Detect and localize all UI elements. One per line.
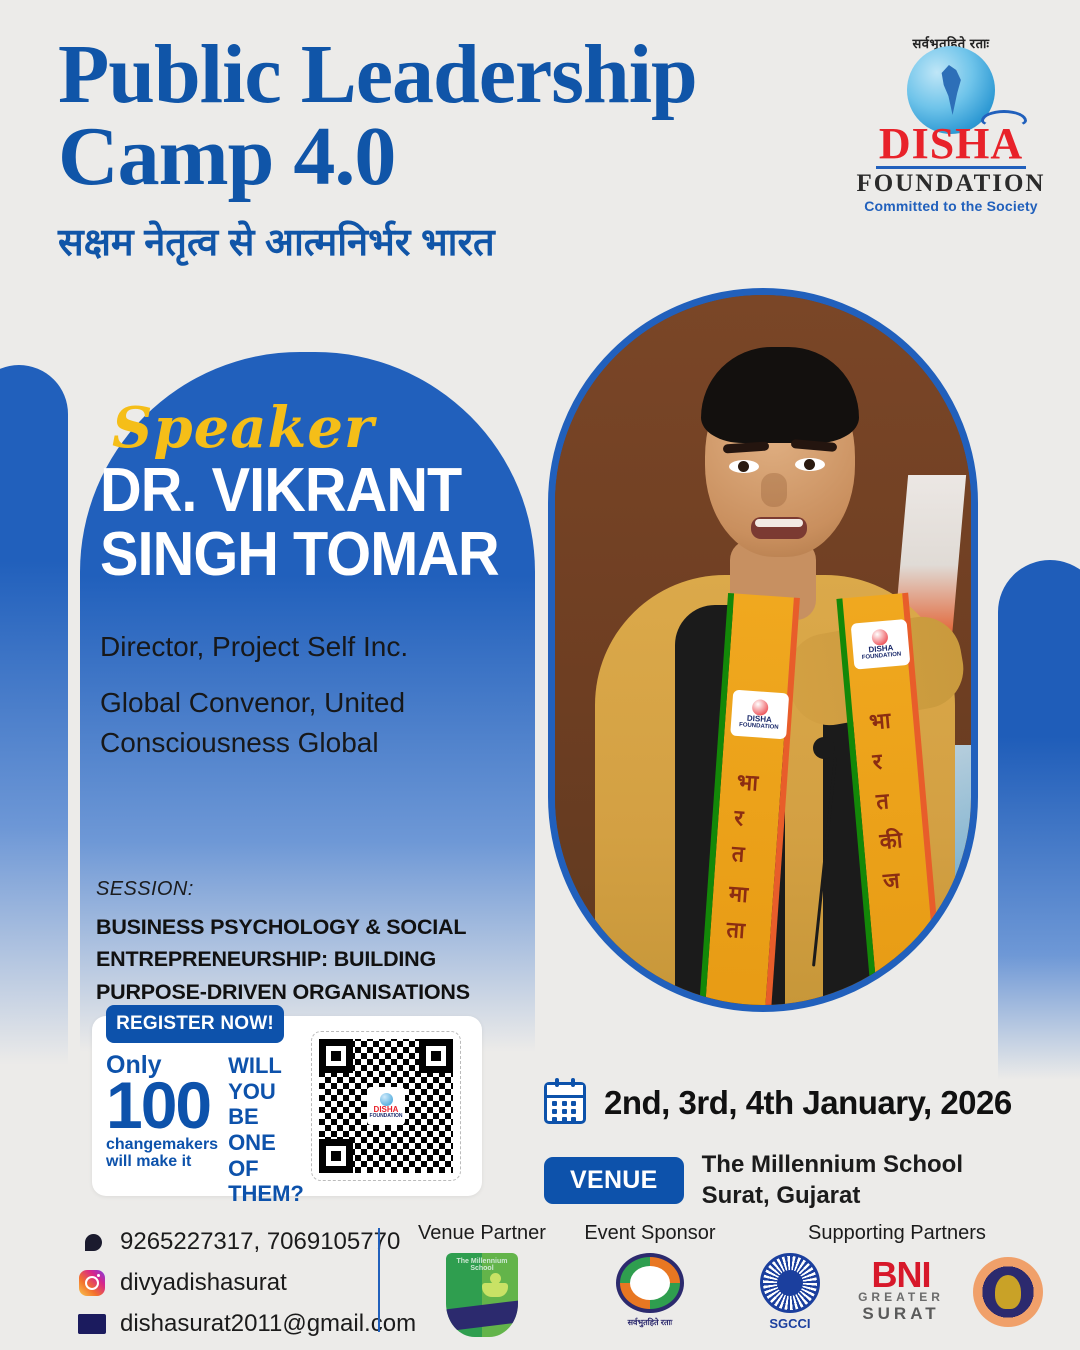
venue-partner-group: Venue Partner The Millennium School bbox=[398, 1222, 566, 1337]
millennium-school-logo: The Millennium School bbox=[446, 1253, 518, 1337]
event-poster: Public Leadership Camp 4.0 सक्षम नेतृत्व… bbox=[0, 0, 1080, 1350]
contact-email: dishasurat2011@gmail.com bbox=[120, 1310, 416, 1338]
logo-tagline: Committed to the Society bbox=[864, 198, 1038, 214]
instagram-icon bbox=[78, 1269, 106, 1297]
qr-code-frame[interactable]: DISHA FOUNDATION bbox=[311, 1031, 461, 1181]
decorative-arch-left-small bbox=[0, 365, 68, 1065]
register-question: WILL YOU BE ONE OF THEM? bbox=[228, 1053, 304, 1206]
contact-phone-row[interactable]: 9265227317, 7069105770 bbox=[78, 1228, 416, 1256]
book-icon bbox=[482, 1283, 508, 1297]
phone-icon bbox=[78, 1228, 106, 1256]
navsarjan-seal-icon bbox=[616, 1253, 684, 1313]
sash-char-right-5: ज bbox=[882, 865, 901, 896]
sash-char-left-3: त bbox=[731, 838, 746, 869]
logo-wordmark: DISHA bbox=[879, 124, 1023, 164]
register-question-5: THEM? bbox=[228, 1181, 304, 1207]
calendar-pin-right bbox=[571, 1078, 575, 1087]
bni-name: BNI bbox=[851, 1260, 951, 1291]
sash-char-left-4: मा bbox=[728, 878, 749, 909]
sash-char-left-1: भा bbox=[736, 766, 759, 797]
sash-badge-org-2: FOUNDATION bbox=[862, 652, 902, 661]
sgcci-seal-icon bbox=[760, 1253, 820, 1313]
registration-card[interactable]: REGISTER NOW! Only 100 changemakers will… bbox=[92, 1016, 482, 1196]
sash-char-left-5: ता bbox=[726, 914, 746, 945]
millennium-motto-band bbox=[446, 1301, 518, 1332]
session-label: SESSION: bbox=[96, 878, 536, 901]
lapel-mic-icon bbox=[813, 737, 835, 759]
registration-stats: Only 100 changemakers will make it WILL … bbox=[106, 1053, 301, 1206]
decorative-arch-right bbox=[998, 560, 1080, 1080]
navsarjan-motto: सर्वभुतहिते रताः bbox=[628, 1317, 673, 1328]
speaker-name-line2: SINGH TOMAR bbox=[100, 526, 509, 584]
disha-foundation-logo: सर्वभूतहिते रताः DISHA FOUNDATION Commit… bbox=[846, 34, 1056, 226]
supporting-partners-label: Supporting Partners bbox=[808, 1222, 986, 1245]
speaker-role-0: Director, Project Self Inc. bbox=[100, 627, 540, 667]
speaker-name-line1: DR. VIKRANT bbox=[100, 462, 509, 520]
contact-phone: 9265227317, 7069105770 bbox=[120, 1228, 400, 1256]
session-title: BUSINESS PSYCHOLOGY & SOCIAL ENTREPRENEU… bbox=[96, 911, 536, 1008]
event-sponsor-logos: सर्वभुतहिते रताः bbox=[610, 1253, 690, 1337]
register-question-2: BE bbox=[228, 1104, 304, 1130]
sash-badge-right: DISHA FOUNDATION bbox=[851, 619, 911, 670]
calendar-icon bbox=[544, 1082, 586, 1124]
qr-finder-top-left bbox=[319, 1039, 353, 1073]
speaker-label: Speaker bbox=[112, 400, 540, 456]
bni-chapter-line2: SURAT bbox=[851, 1304, 951, 1324]
register-changemakers-line1: changemakers bbox=[106, 1136, 218, 1154]
sash-char-right-4: की bbox=[878, 824, 903, 856]
poster-subtitle-hindi: सक्षम नेतृत्व से आत्मनिर्भर भारत bbox=[58, 215, 818, 267]
qr-finder-bottom-left bbox=[319, 1139, 353, 1173]
speaker-nose bbox=[761, 473, 787, 507]
register-seat-count: 100 bbox=[106, 1078, 218, 1132]
eye-icon bbox=[981, 110, 1027, 128]
lotus-emblem-logo bbox=[973, 1257, 1043, 1327]
venue-partner-logos: The Millennium School bbox=[446, 1253, 518, 1337]
registration-count-block: Only 100 changemakers will make it bbox=[106, 1053, 218, 1206]
speaker-mouth bbox=[751, 517, 807, 539]
supporting-partners-group: Supporting Partners SGCCI BNI GREATER SU… bbox=[734, 1222, 1060, 1337]
sash-char-right-2: र bbox=[871, 746, 883, 777]
sgcci-logo: SGCCI bbox=[751, 1253, 829, 1331]
event-date-row: 2nd, 3rd, 4th January, 2026 bbox=[544, 1082, 1012, 1124]
speaker-eye-left bbox=[729, 460, 759, 473]
contact-email-row[interactable]: dishasurat2011@gmail.com bbox=[78, 1310, 416, 1338]
venue-city: Surat, Gujarat bbox=[702, 1181, 963, 1212]
speaker-photo: DISHA FOUNDATION भा र त मा ता DISHA FOUN… bbox=[548, 288, 978, 1012]
qr-code-icon[interactable]: DISHA FOUNDATION bbox=[319, 1039, 453, 1173]
speaker-photo-illustration: DISHA FOUNDATION भा र त मा ता DISHA FOUN… bbox=[555, 295, 971, 1005]
sash-char-right-1: भा bbox=[868, 705, 892, 737]
venue-details: The Millennium School Surat, Gujarat bbox=[702, 1150, 963, 1211]
register-now-button[interactable]: REGISTER NOW! bbox=[106, 1005, 284, 1043]
speaker-info-block: Speaker DR. VIKRANT SINGH TOMAR Director… bbox=[100, 400, 540, 763]
qr-center-logo: DISHA FOUNDATION bbox=[367, 1087, 405, 1125]
millennium-school-name: The Millennium School bbox=[446, 1258, 518, 1272]
email-icon bbox=[78, 1310, 106, 1338]
calendar-pin-left bbox=[555, 1078, 559, 1087]
contact-instagram: divyadishasurat bbox=[120, 1269, 287, 1297]
navsarjan-pratishthan-logo: सर्वभुतहिते रताः bbox=[610, 1253, 690, 1337]
poster-title-line2: Camp 4.0 bbox=[58, 116, 818, 198]
bni-chapter-line1: GREATER bbox=[851, 1290, 951, 1304]
event-sponsor-label: Event Sponsor bbox=[584, 1222, 715, 1245]
venue-name: The Millennium School bbox=[702, 1150, 963, 1181]
title-block: Public Leadership Camp 4.0 सक्षम नेतृत्व… bbox=[58, 34, 818, 267]
partners-block: Venue Partner The Millennium School Even… bbox=[398, 1222, 1060, 1337]
contact-instagram-row[interactable]: divyadishasurat bbox=[78, 1269, 416, 1297]
event-sponsor-group: Event Sponsor सर्वभुतहिते रताः bbox=[566, 1222, 734, 1337]
venue-badge: VENUE bbox=[544, 1157, 684, 1204]
qr-finder-top-right bbox=[419, 1039, 453, 1073]
register-question-1: YOU bbox=[228, 1079, 304, 1105]
sash-badge-org: FOUNDATION bbox=[739, 722, 779, 731]
event-venue-row: VENUE The Millennium School Surat, Gujar… bbox=[544, 1150, 963, 1211]
supporting-partner-logos: SGCCI BNI GREATER SURAT bbox=[751, 1253, 1043, 1331]
sash-char-right-3: त bbox=[875, 785, 890, 816]
register-question-3: ONE bbox=[228, 1130, 304, 1156]
contact-block: 9265227317, 7069105770 divyadishasurat d… bbox=[78, 1228, 416, 1350]
register-changemakers: changemakers will make it bbox=[106, 1136, 218, 1172]
session-block: SESSION: BUSINESS PSYCHOLOGY & SOCIAL EN… bbox=[96, 878, 536, 1008]
registration-left: REGISTER NOW! Only 100 changemakers will… bbox=[106, 1005, 301, 1206]
sash-char-left-2: र bbox=[733, 802, 744, 833]
sash-badge-left: DISHA FOUNDATION bbox=[730, 690, 789, 740]
sgcci-name: SGCCI bbox=[769, 1316, 810, 1331]
speaker-eye-right bbox=[795, 458, 825, 471]
bni-logo: BNI GREATER SURAT bbox=[851, 1260, 951, 1325]
register-question-4: OF bbox=[228, 1156, 304, 1182]
speaker-role-1: Global Convenor, United Consciousness Gl… bbox=[100, 683, 540, 763]
logo-org-text: FOUNDATION bbox=[857, 170, 1046, 198]
qr-logo-org: FOUNDATION bbox=[370, 1114, 403, 1119]
register-changemakers-line2: will make it bbox=[106, 1153, 218, 1171]
speaker-roles: Director, Project Self Inc. Global Conve… bbox=[100, 627, 540, 762]
poster-title-line1: Public Leadership bbox=[58, 34, 818, 116]
event-date: 2nd, 3rd, 4th January, 2026 bbox=[604, 1084, 1012, 1122]
contact-partner-divider bbox=[378, 1228, 380, 1332]
register-question-0: WILL bbox=[228, 1053, 304, 1079]
venue-partner-label: Venue Partner bbox=[418, 1222, 546, 1245]
calendar-dots bbox=[552, 1101, 578, 1122]
